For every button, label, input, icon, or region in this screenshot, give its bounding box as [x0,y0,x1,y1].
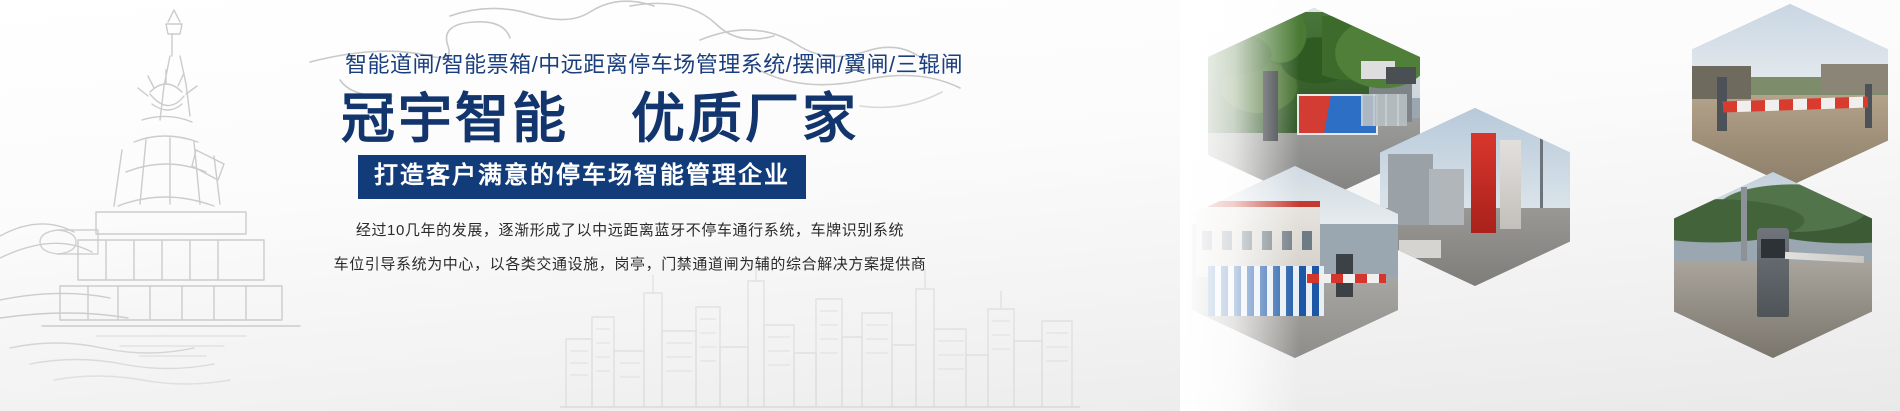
hex-photo-cluster [1180,0,1900,411]
description-line-2: 车位引导系统为中心，以各类交通设施，岗亭，门禁通道闸为辅的综合解决方案提供商 [330,248,930,282]
hex-photo-blue-fence-gatehouse [1192,166,1398,358]
banner-description: 经过10几年的发展，逐渐形成了以中远距离蓝牙不停车通行系统，车牌识别系统 车位引… [330,214,930,282]
description-line-1: 经过10几年的发展，逐渐形成了以中远距离蓝牙不停车通行系统，车牌识别系统 [330,214,930,248]
banner-subtitle: 智能道闸/智能票箱/中远距离停车场管理系统/摆闸/翼闸/三辊闸 [345,50,963,80]
banner-headline: 冠宇智能 优质厂家 [341,88,859,150]
hex-photo-barrier-gravel-lot [1692,4,1888,186]
hex-photo-grey-terminal [1674,172,1872,358]
headline-part-2: 优质厂家 [631,89,859,149]
banner-slogan-bar: 打造客户满意的停车场智能管理企业 [358,155,806,199]
hero-banner: 智能道闸/智能票箱/中远距离停车场管理系统/摆闸/翼闸/三辊闸 冠宇智能 优质厂… [0,0,1900,411]
headline-part-1: 冠宇智能 [341,89,569,149]
banner-copy: 智能道闸/智能票箱/中远距离停车场管理系统/摆闸/翼闸/三辊闸 冠宇智能 优质厂… [0,0,930,411]
